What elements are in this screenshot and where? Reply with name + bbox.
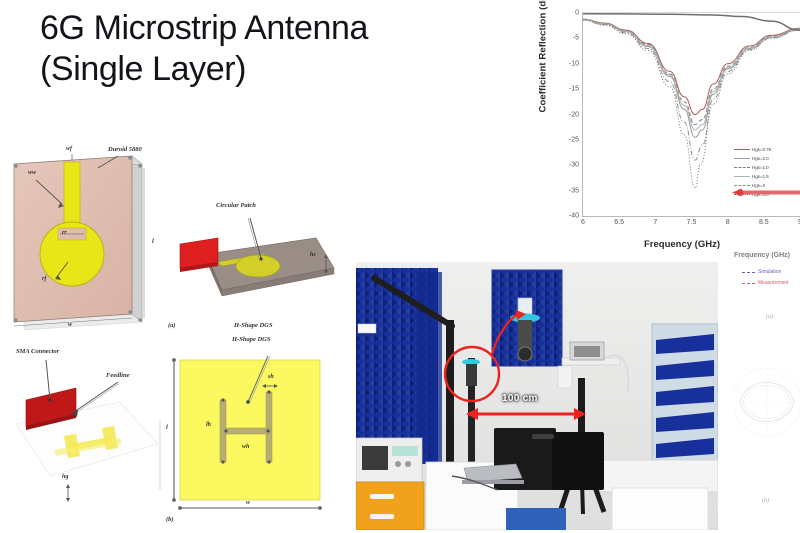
- antenna-cad-front-view: Duroid 5880 wf ww rr rf w l: [2, 142, 170, 334]
- chart-series-line: [583, 20, 800, 160]
- partial-figure-right-edge: Frequency (GHz) Simulation Measurement (…: [734, 252, 800, 530]
- y-tick-7: -35: [569, 187, 579, 194]
- edge-legend: Simulation Measurement: [742, 268, 789, 287]
- antenna-cad-perspective-view: Circular Patch hs H-Shape DGS (a): [166, 196, 342, 338]
- label-w: w: [68, 322, 72, 328]
- legend-label-1: Hgs=2.0: [752, 156, 769, 161]
- edge-legend-swatch-measurement: [742, 283, 755, 284]
- cad-sma-svg: [2, 340, 168, 528]
- edge-polar-plot-svg: [734, 342, 800, 462]
- label-w-dgs: w: [246, 500, 250, 506]
- x-tick-0: 6: [581, 219, 585, 226]
- cad-perspective-svg: [166, 196, 342, 338]
- label-l: l: [152, 238, 154, 245]
- edge-legend-item-1: Measurement: [742, 279, 789, 287]
- y-tick-3: -15: [569, 86, 579, 93]
- edge-legend-item-0: Simulation: [742, 268, 789, 276]
- distance-annotation-label: 100 cm: [502, 393, 538, 404]
- x-tick-4: 8: [726, 219, 730, 226]
- resonance-arrow-annotation: [731, 188, 800, 197]
- legend-item-3: Hgs=1.5: [734, 172, 796, 180]
- label-hs: hs: [310, 252, 316, 258]
- chart-x-axis-label: Frequency (GHz): [644, 239, 720, 250]
- y-tick-2: -10: [569, 60, 579, 67]
- sublabel-a-perspective: (a): [168, 322, 176, 329]
- legend-label-0: Hgs=0.75: [752, 147, 771, 152]
- edge-legend-swatch-simulation: [742, 272, 755, 273]
- y-tick-1: -5: [573, 35, 579, 42]
- chart-y-axis-label: Coefficient Reflection (dB): [538, 0, 549, 137]
- label-sh: sh: [268, 374, 274, 380]
- label-rr: rr: [62, 230, 67, 236]
- edge-legend-label-simulation: Simulation: [758, 269, 781, 275]
- label-feedline: Feedline: [106, 372, 129, 379]
- legend-label-4: Hgs=3: [752, 183, 765, 188]
- chart-plot-area: 0 -5 -10 -15 -20 -25 -30 -35 -40 6 6.5 7…: [582, 12, 800, 217]
- antenna-cad-sma-feedline-view: SMA Connector Feedline hg: [2, 340, 168, 528]
- sublabel-b: (b): [166, 516, 174, 523]
- page-title: 6G Microstrip Antenna (Single Layer): [40, 8, 510, 91]
- edge-x-axis-label: Frequency (GHz): [734, 252, 790, 259]
- label-lh: lh: [206, 422, 211, 428]
- y-tick-8: -40: [569, 213, 579, 220]
- slide-canvas: 6G Microstrip Antenna (Single Layer) Coe…: [0, 0, 800, 533]
- edge-legend-label-measurement: Measurement: [758, 280, 789, 286]
- title-line-1: 6G Microstrip Antenna: [40, 8, 510, 49]
- label-wf: wf: [66, 146, 72, 152]
- legend-swatch-3: [734, 176, 750, 177]
- legend-swatch-1: [734, 158, 750, 159]
- y-tick-4: -20: [569, 111, 579, 118]
- legend-swatch-2: [734, 167, 750, 168]
- legend-label-2: Hgs=1.0: [752, 165, 769, 170]
- label-substrate-duroid: Duroid 5880: [108, 146, 142, 153]
- x-tick-5: 8.5: [759, 219, 769, 226]
- label-h-shape-dgs-perspective: H-Shape DGS: [234, 322, 272, 329]
- x-tick-1: 6.5: [614, 219, 624, 226]
- h-shape-dgs-ground-plane: H-Shape DGS lh wh sh l w (b): [164, 332, 346, 528]
- y-tick-5: -25: [569, 136, 579, 143]
- legend-swatch-0: [734, 149, 750, 150]
- chart-series-line: [583, 19, 800, 114]
- label-l-dgs: l: [166, 424, 168, 431]
- label-sma-connector: SMA Connector: [16, 348, 59, 355]
- legend-item-0: Hgs=0.75: [734, 145, 796, 153]
- label-wh: wh: [242, 444, 249, 450]
- measurement-setup-photo: 100 cm: [356, 262, 718, 530]
- chart-series-line: [583, 19, 800, 124]
- edge-sublabel-a: (a): [766, 314, 773, 320]
- x-tick-3: 7.5: [687, 219, 697, 226]
- y-tick-0: 0: [575, 10, 579, 17]
- title-line-2: (Single Layer): [40, 49, 510, 90]
- y-tick-6: -30: [569, 162, 579, 169]
- label-rf: rf: [42, 276, 46, 282]
- edge-sublabel-b: (b): [762, 498, 769, 504]
- x-tick-2: 7: [653, 219, 657, 226]
- reflection-coefficient-chart: Coefficient Reflection (dB) 0 -5 -10 -15…: [524, 2, 800, 274]
- label-hg: hg: [62, 474, 68, 480]
- legend-swatch-4: [734, 185, 750, 186]
- legend-label-3: Hgs=1.5: [752, 174, 769, 179]
- label-ww: ww: [28, 170, 36, 176]
- dgs-ground-svg: [164, 332, 346, 528]
- legend-item-2: Hgs=1.0: [734, 163, 796, 171]
- label-h-shape-dgs: H-Shape DGS: [232, 336, 270, 343]
- legend-item-1: Hgs=2.0: [734, 154, 796, 162]
- label-circular-patch: Circular Patch: [216, 202, 256, 209]
